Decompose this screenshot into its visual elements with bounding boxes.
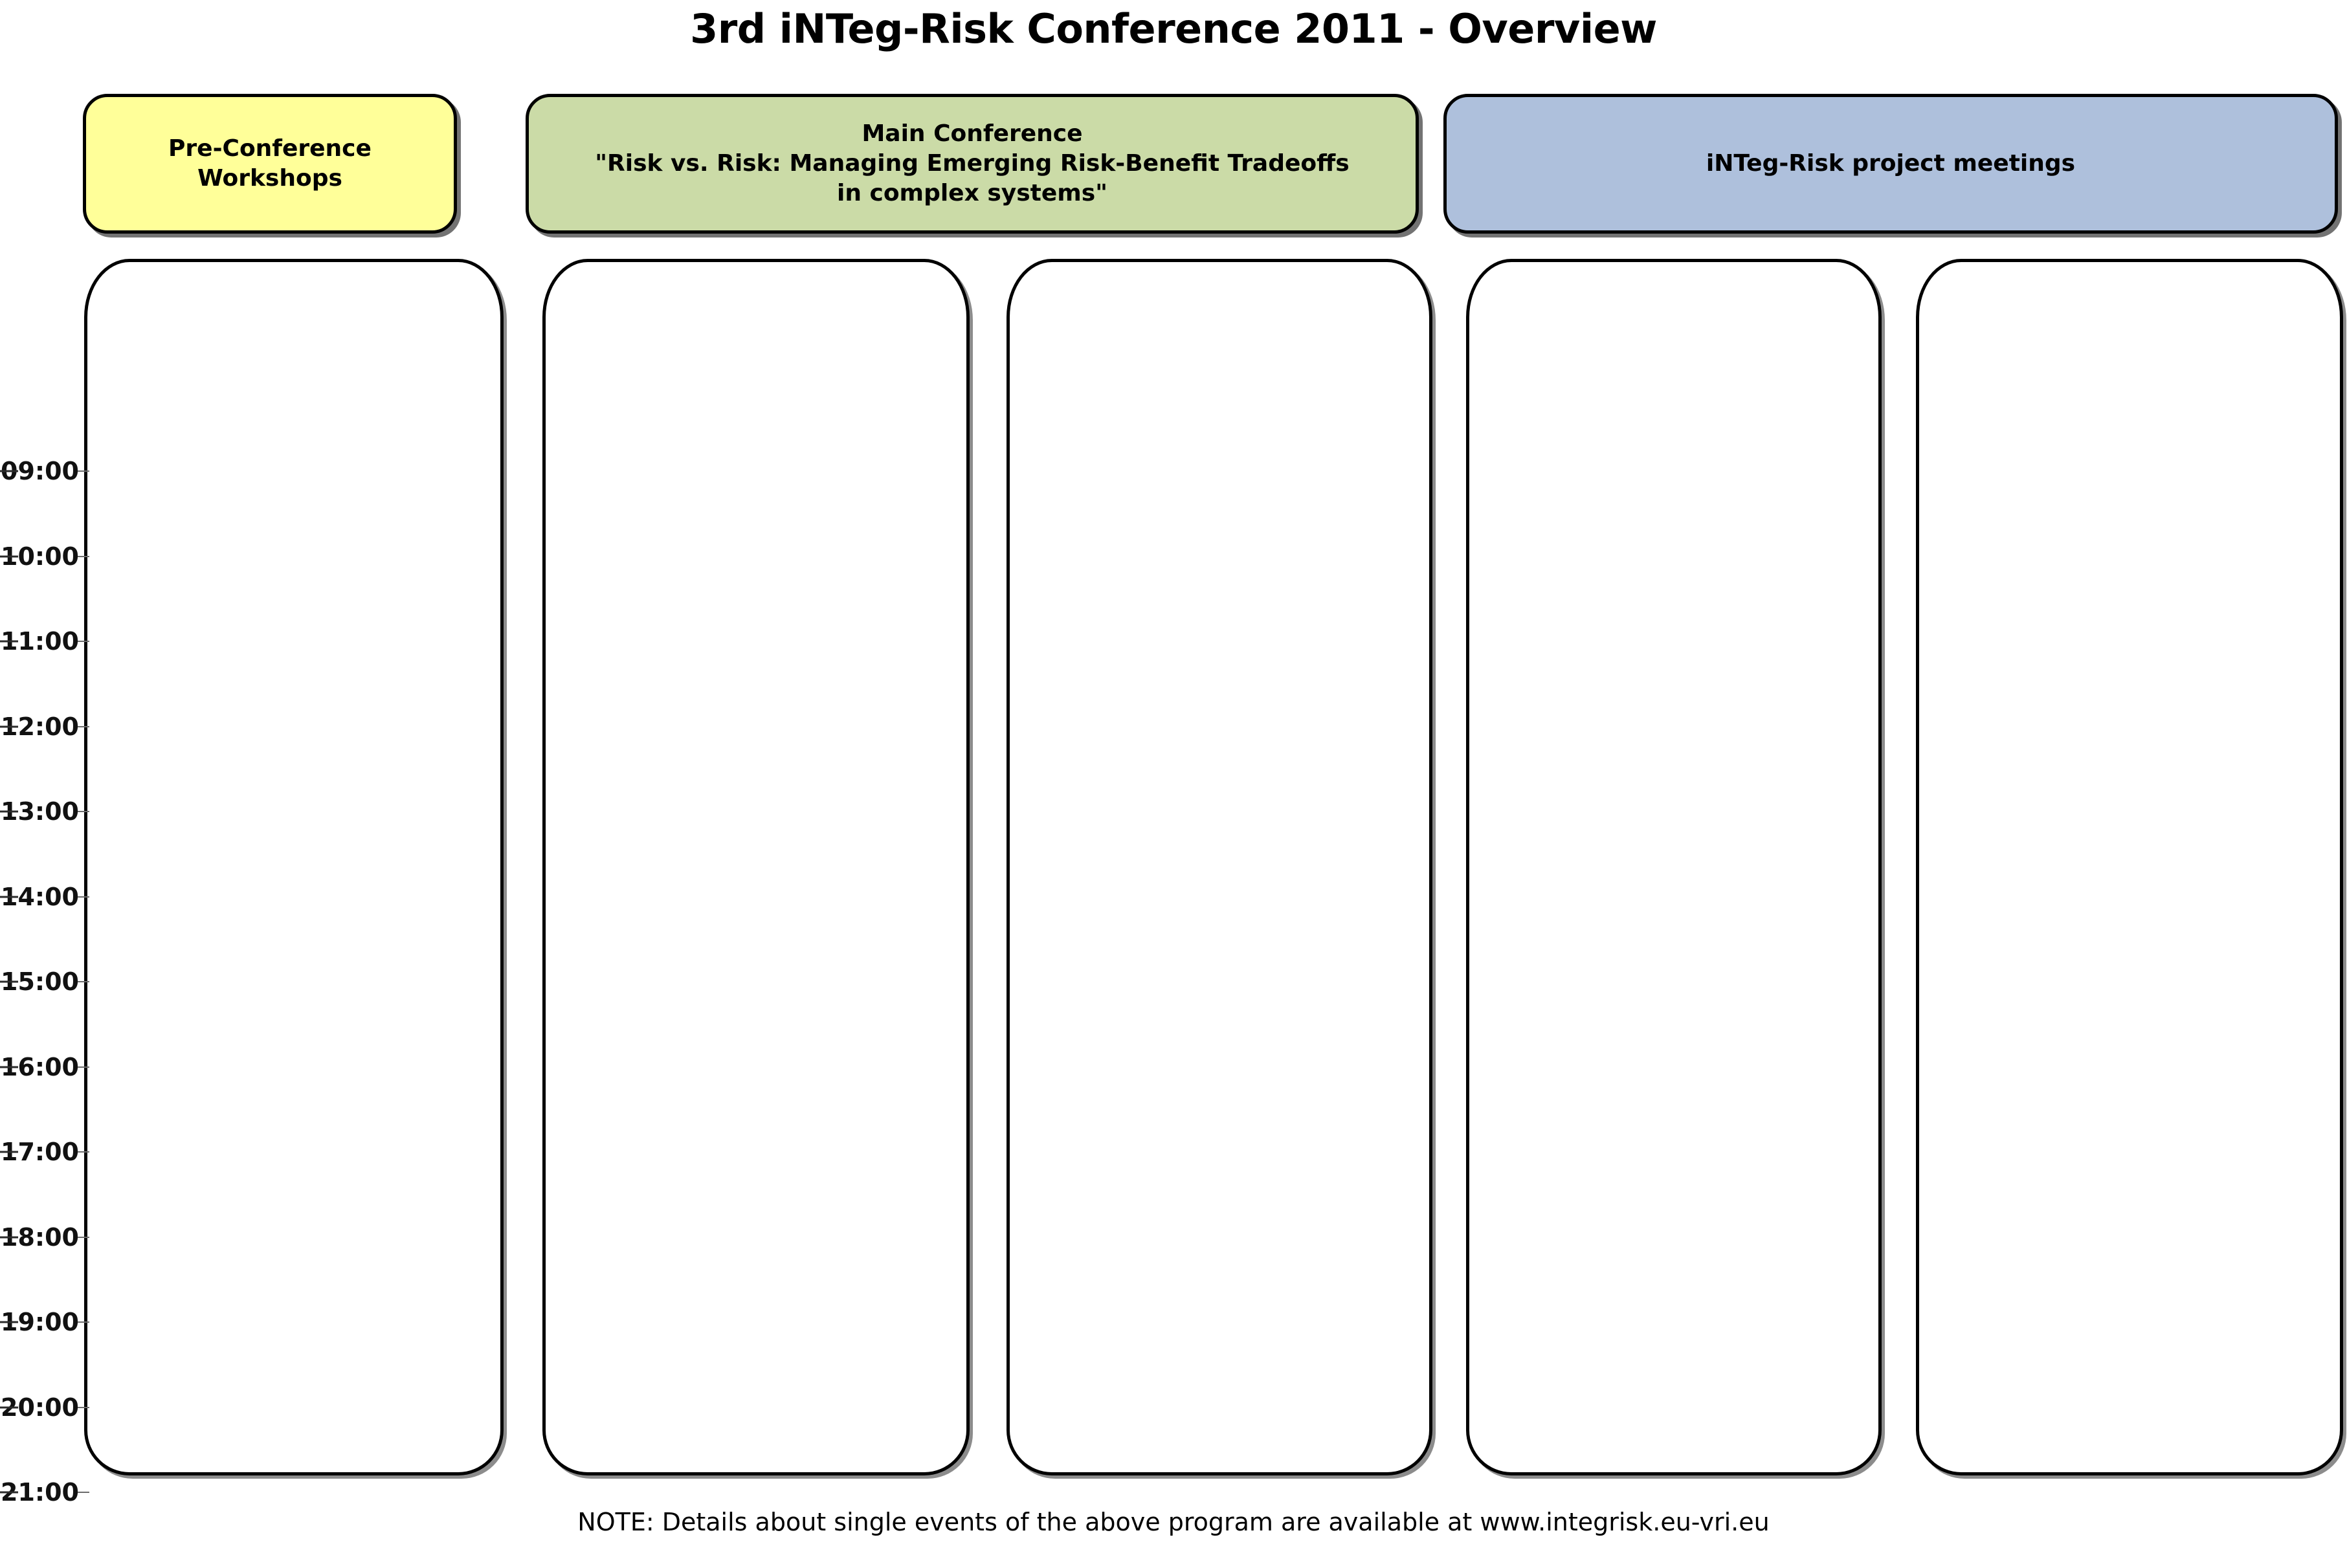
hour-rule: [78, 811, 89, 812]
hour-rule: [78, 981, 89, 982]
time-tick-dash: [0, 1492, 18, 1494]
hour-rule: [78, 556, 89, 557]
hour-rule: [78, 896, 89, 898]
time-tick-dash: [0, 1321, 18, 1323]
day-column-frame: [84, 259, 504, 1475]
hour-rule: [78, 1492, 89, 1493]
banner-proj-label: iNTeg-Risk project meetings: [1706, 149, 2075, 179]
schedule-overview: 3rd iNTeg-Risk Conference 2011 - Overvie…: [0, 0, 2347, 1568]
hour-rule: [78, 470, 89, 472]
banner-main-conference: Main Conference "Risk vs. Risk: Managing…: [526, 94, 1419, 234]
time-tick-dash: [0, 811, 18, 813]
banner-pre-label: Pre-Conference Workshops: [168, 134, 372, 193]
time-tick-dash: [0, 1236, 18, 1238]
time-tick-dash: [0, 641, 18, 643]
day-column-frame: [1916, 259, 2343, 1475]
footer-note: NOTE: Details about single events of the…: [0, 1508, 2347, 1536]
day-column-frame: [542, 259, 970, 1475]
hour-rule: [78, 1066, 89, 1068]
day-column-frame: [1466, 259, 1882, 1475]
day-column-frame: [1007, 259, 1432, 1475]
time-tick-dash: [0, 725, 18, 727]
time-tick-dash: [0, 1406, 18, 1408]
hour-rule: [78, 726, 89, 727]
time-tick-dash: [0, 1066, 18, 1068]
time-tick-dash: [0, 896, 18, 898]
hour-rule: [78, 1237, 89, 1238]
page-title: 3rd iNTeg-Risk Conference 2011 - Overvie…: [0, 5, 2347, 52]
hour-rule: [78, 1407, 89, 1408]
time-tick-dash: [0, 470, 18, 472]
time-tick-dash: [0, 1151, 18, 1153]
time-tick-dash: [0, 981, 18, 983]
hour-rule: [78, 641, 89, 642]
time-tick-dash: [0, 555, 18, 557]
time-axis: 09:0010:0011:0012:0013:0014:0015:0016:00…: [0, 0, 84, 1568]
banner-main-label: Main Conference "Risk vs. Risk: Managing…: [595, 119, 1349, 208]
banner-pre-conference: Pre-Conference Workshops: [83, 94, 457, 234]
hour-rule: [78, 1321, 89, 1323]
banner-project-meetings: iNTeg-Risk project meetings: [1443, 94, 2338, 234]
hour-rule: [78, 1151, 89, 1153]
